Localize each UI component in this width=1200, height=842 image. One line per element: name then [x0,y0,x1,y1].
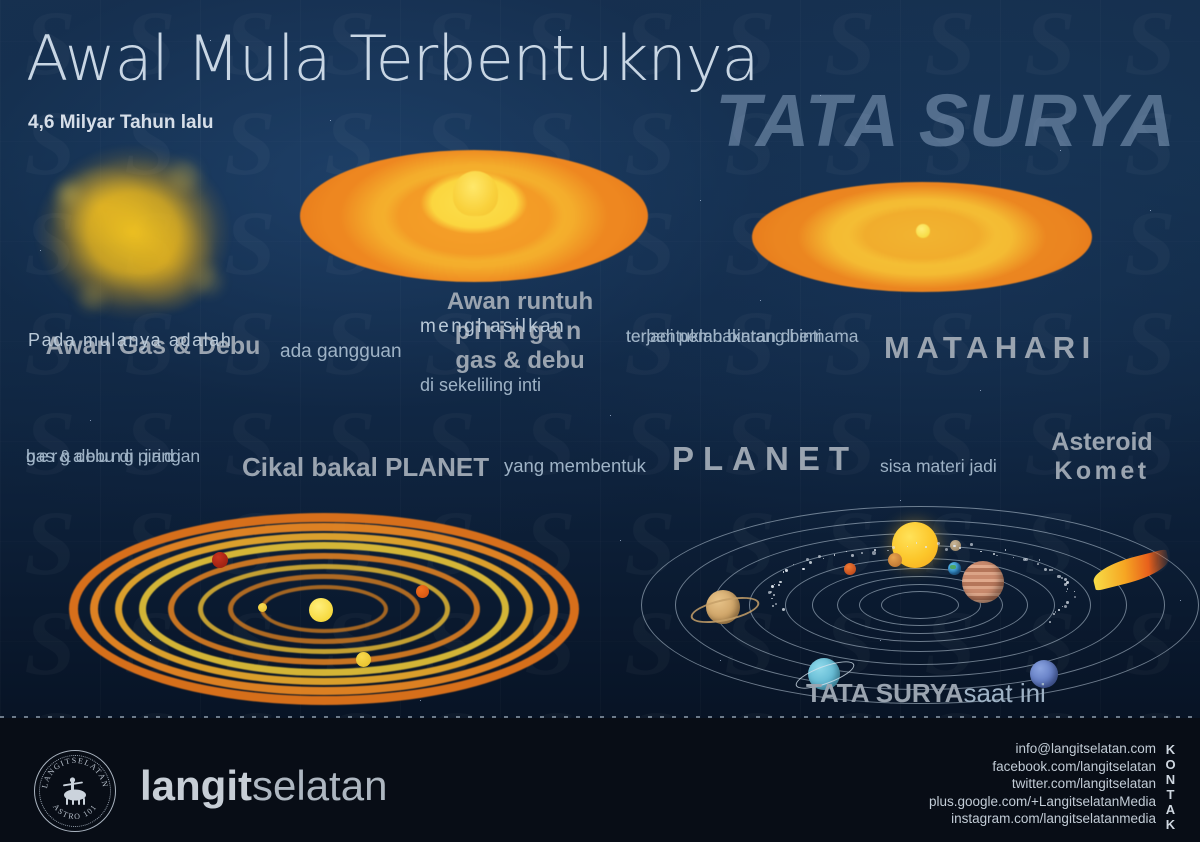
protostar-disc-illustration [752,182,1092,292]
asteroid [872,551,875,554]
planetesimal-orange [416,585,429,598]
asteroid [1005,549,1007,551]
kontak-vertical-label: KONTAK [1162,742,1180,832]
asteroid [775,603,777,605]
asteroid [907,546,908,547]
caption-collapse-line4: gas & debu [420,347,620,375]
kontak-letter: O [1162,757,1180,772]
asteroid [993,553,995,555]
asteroid [1066,601,1069,604]
gas-dust-cloud-texture [22,128,254,346]
newborn-star-core [916,224,930,238]
asteroid [861,552,863,554]
star [760,300,761,301]
watermark-letter: S [400,400,500,500]
collapsing-cloud-disc-illustration [300,150,648,282]
planet-jupiter [962,561,1004,603]
asteroid [772,605,774,607]
caption-ignition-line2: terbentuklah bintang bernama [626,326,859,347]
star [620,540,621,541]
watermark-letter: S [1100,300,1200,400]
watermark-letter: S [700,300,800,400]
asteroid [809,561,812,564]
caption-collapse-line5: di sekeliling inti [420,375,541,396]
label-planet: PLANET [672,440,858,478]
asteroid [925,546,927,548]
planetesimal-yellow [356,652,371,667]
watermark-letter: S [1100,200,1200,300]
wordmark-selatan: selatan [252,762,387,809]
star [420,700,421,701]
caption-planet: PLANET [672,440,858,478]
caption-protoplanet: Cikal bakal PLANET [242,452,489,483]
caption-forming-line1: yang membentuk [504,455,646,477]
asteroid [778,584,780,586]
kontak-letter: K [1162,817,1180,832]
contact-item[interactable]: instagram.com/langitselatanmedia [929,810,1156,828]
proto-star [309,598,333,622]
asteroid [1064,583,1067,586]
star [330,120,331,121]
star [1150,210,1151,211]
asteroid [782,608,785,611]
asteroid [892,546,895,549]
planet-mars [844,563,856,575]
star [980,390,981,391]
label-saat-ini: saat ini [963,678,1045,709]
caption-accretion-line2: bergabung jadi [26,446,184,467]
planet-venus [888,553,902,567]
caption-cloud: Pada mulanya adalah Awan Gas & Debu [28,330,278,361]
asteroid [874,549,876,551]
contact-item[interactable]: info@langitselatan.com [929,740,1156,758]
label-komet: Komet [1022,457,1182,486]
contact-list: info@langitselatan.comfacebook.com/langi… [929,740,1156,828]
caption-disturbance-line1: ada gangguan [280,341,402,363]
caption-small-bodies: Asteroid Komet [1022,428,1182,486]
asteroid [970,543,973,546]
asteroid [779,581,782,584]
contact-item[interactable]: plus.google.com/+LangitselatanMedia [929,793,1156,811]
asteroid [1049,621,1051,623]
asteroid [771,585,774,588]
centaur-emblem [63,777,86,805]
page-title: Awal Mula Terbentuknya [26,22,759,95]
star [610,415,611,416]
asteroid [1055,611,1056,612]
planetesimal-red [212,552,228,568]
caption-collapse-line1: Awan runtuh [420,288,620,316]
caption-star: MATAHARI [884,330,1097,366]
wordmark-langit: langit [140,762,252,809]
label-tata-surya: TATA SURYA [806,678,963,708]
star [90,420,91,421]
brand-word-tata-surya: TATA SURYA [715,78,1176,163]
label-matahari: MATAHARI [884,330,1097,366]
watermark-letter: S [500,400,600,500]
caption-today: TATA SURYA saat ini [806,678,963,709]
watermark-letter: S [300,400,400,500]
caption-leftover-line1: sisa materi jadi [880,456,997,477]
watermark-letter: S [200,400,300,500]
asteroid [1064,605,1067,608]
asteroid [1057,575,1061,579]
footer-divider [0,716,1200,718]
badge-circular-text: LANGITSELATAN ASTRO 101 [35,751,115,831]
label-asteroid: Asteroid [1022,428,1182,457]
asteroid [1067,588,1068,589]
kontak-letter: A [1162,802,1180,817]
kontak-letter: T [1162,787,1180,802]
star [700,200,701,201]
asteroid [785,569,788,572]
protostar-bulge [453,171,498,216]
asteroid [916,542,918,544]
wordmark: langitselatan [140,762,387,810]
watermark-letter: S [900,400,1000,500]
svg-text:ASTRO 101: ASTRO 101 [51,802,99,821]
asteroid [1037,563,1039,565]
contact-item[interactable]: facebook.com/langitselatan [929,758,1156,776]
protoplanetary-disc-illustration [78,522,570,696]
asteroid [806,558,809,561]
planetesimal-yellow-small [258,603,267,612]
caption-cloud-line1: Pada mulanya adalah [28,330,233,351]
earth-landmass [950,565,956,569]
contact-item[interactable]: twitter.com/langitselatan [929,775,1156,793]
caption-collapse-line2: menghasilkan [420,316,566,338]
asteroid [1023,558,1025,560]
kontak-letter: K [1162,742,1180,757]
caption-collapse: Awan runtuh menghasilkan piringan gas & … [420,288,620,375]
infographic-canvas: SSSSSSSSSSSSSSSSSSSSSSSSSSSSSSSSSSSSSSSS… [0,0,1200,842]
kontak-letter: N [1162,772,1180,787]
langitselatan-badge-logo: LANGITSELATAN ASTRO 101 [34,750,116,832]
label-cikal-bakal-planet: Cikal bakal PLANET [242,452,489,483]
